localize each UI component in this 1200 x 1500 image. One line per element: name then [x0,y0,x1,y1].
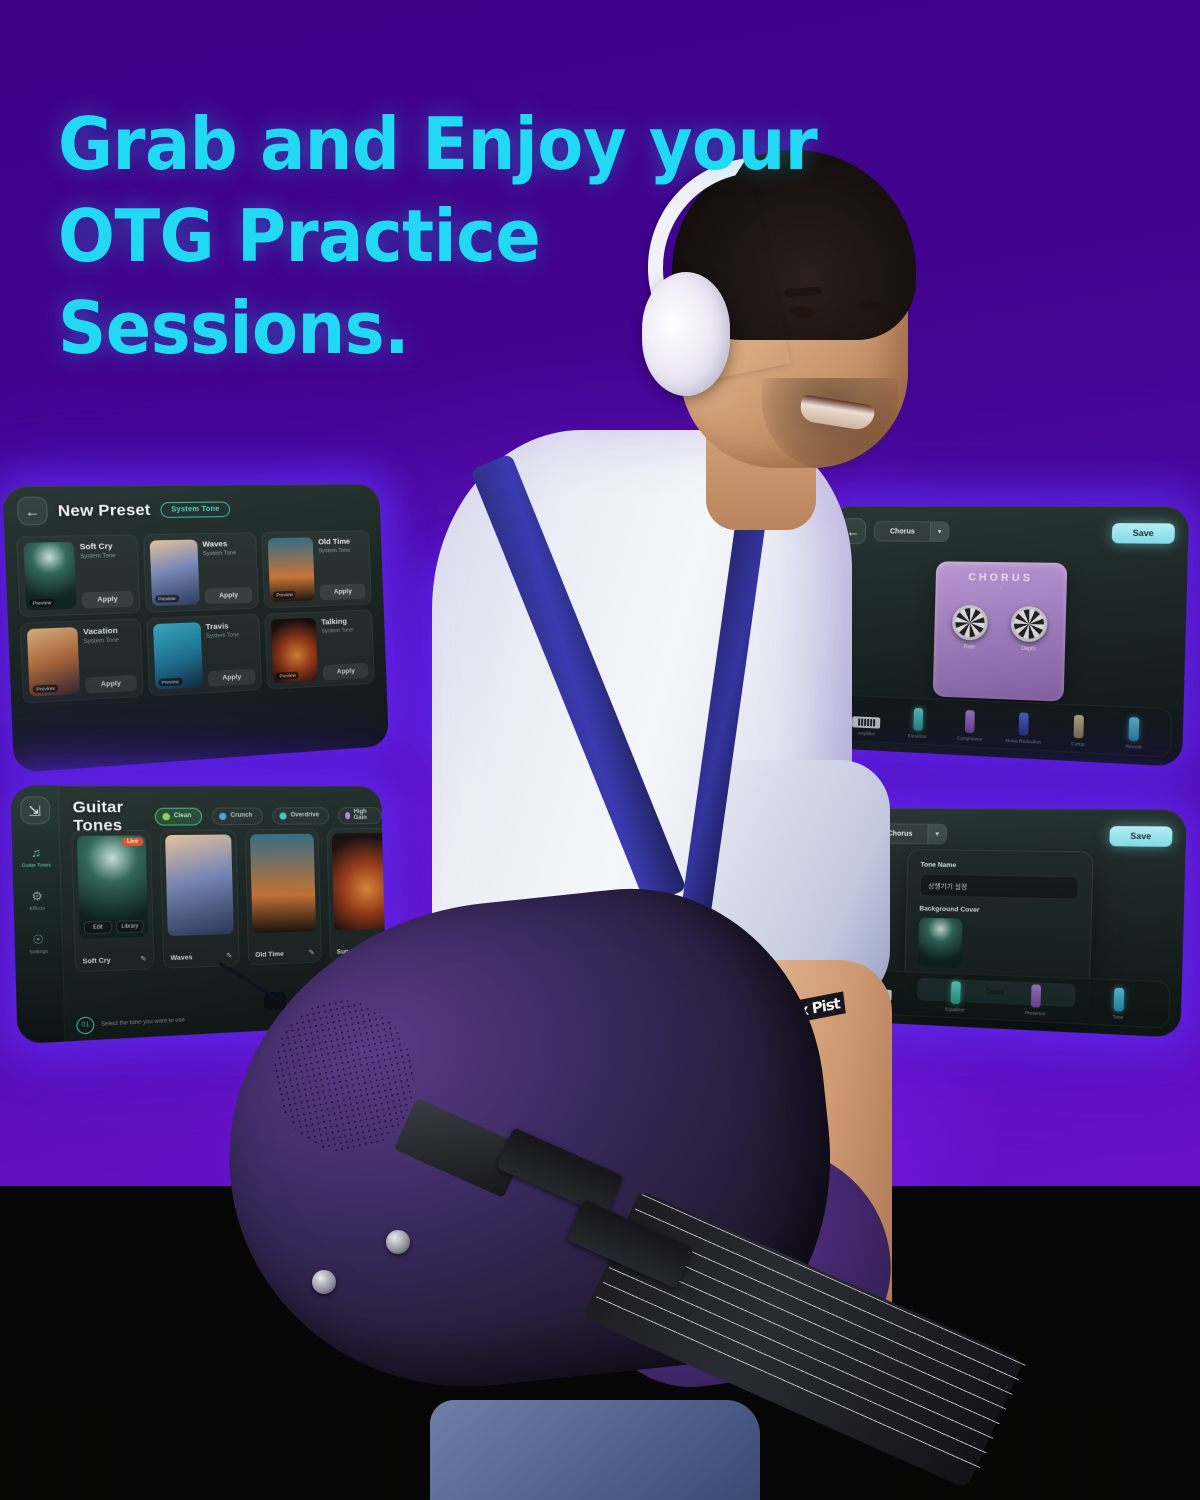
preset-subtitle: System Tone [321,627,367,635]
footer-hint: Select the tone you want to use [101,1017,185,1028]
fx-slot-label: Presence [1025,1010,1046,1016]
status-dot [219,812,227,819]
panel-new-preset[interactable]: ← New Preset System Tone Preview Soft Cr… [2,484,389,773]
sidebar: ⇲ ♫ Guitar Tones ⚙ Effects ☉ Settings [10,785,65,1044]
fx-chip-icon [965,710,975,733]
preview-label[interactable]: Preview [33,684,59,693]
pencil-icon[interactable]: ✎ [309,949,315,957]
status-dot [345,812,350,819]
chevron-down-icon[interactable]: ▾ [927,825,946,844]
filter-chip-label: Overdrive [291,812,320,818]
exit-icon[interactable]: ⇲ [19,796,50,824]
apply-button[interactable]: Apply [207,669,256,687]
preview-label[interactable]: Preview [29,599,55,607]
preview-label[interactable]: Preview [276,672,299,680]
filter-chip-high-gain[interactable]: High Gain [338,806,382,823]
preset-name: Waves [202,539,250,549]
fx-chip-icon [1073,715,1083,739]
filter-chip-label: High Gain [353,809,372,821]
list-item[interactable]: Preview Travis System Tone Apply [146,614,263,697]
guitar-tone-knob [312,1270,336,1294]
preset-name: Old Time [318,536,364,546]
fx-slot-tone[interactable]: Tone [1077,986,1160,1022]
fx-slot-comp[interactable]: Comp [1051,714,1105,748]
list-item[interactable]: Preview Soft Cry System Tone Apply [16,534,140,617]
fx-chip-icon [913,708,923,731]
preset-thumbnail: Preview [149,540,199,607]
pencil-icon[interactable]: ✎ [140,955,147,964]
preset-subtitle: System Tone [83,637,134,646]
sidebar-item-label: Effects [29,905,45,911]
step-badge: 01 [76,1016,94,1034]
apply-button[interactable]: Apply [85,675,137,694]
guitar-volume-knob [386,1230,410,1254]
preset-grid: Preview Soft Cry System Tone Apply Previ… [16,530,375,703]
fx-slot-equalizer[interactable]: Equalizer [893,707,943,740]
preset-subtitle: System Tone [318,547,364,554]
apply-button[interactable]: Apply [323,663,369,681]
pedal-title: CHORUS [968,572,1033,584]
fx-slot-label: Amplifier [857,730,875,736]
gear-icon: ☉ [32,935,44,947]
list-item[interactable]: Preview Waves System Tone Apply [142,532,259,613]
page-title: New Preset [57,501,150,520]
sliders-icon: ⚙ [31,891,43,903]
preset-thumbnail: Preview [153,622,203,689]
page-headline: Grab and Enjoy your OTG Practice Session… [58,98,765,374]
list-item[interactable]: Preview Talking System Tone Apply [265,609,375,689]
save-button[interactable]: Save [1112,523,1175,544]
knob-rate[interactable]: Rate [951,605,988,651]
chorus-toolbar: ← Chorus ▾ Save [840,518,1175,547]
sidebar-item-effects[interactable]: ⚙ Effects [29,891,45,911]
tone-card[interactable]: Live Edit Library Soft Cry ✎ [71,830,155,972]
filter-chip-overdrive[interactable]: Overdrive [272,807,329,825]
preset-subtitle: System Tone [203,550,251,557]
preset-name: Travis [205,620,253,631]
fx-slot-label: Equalizer [908,733,927,739]
status-badge: Live [121,837,143,846]
fx-chip-icon [1129,717,1140,741]
fx-slot-noise-reduction[interactable]: Noise Reduction [997,711,1050,745]
save-button[interactable]: Save [1109,826,1172,847]
amplifier-icon [852,716,880,728]
filter-chip-crunch[interactable]: Crunch [211,807,263,825]
tone-name-label: Tone Name [920,861,1079,871]
subject-eyebrow-right [856,302,892,311]
poster-stage: Grab and Enjoy your OTG Practice Session… [0,0,1200,1500]
fx-chip-icon [950,981,960,1004]
fx-chip-icon [1113,987,1124,1011]
fx-slot-label: Reverb [1125,743,1141,749]
guitar-tones-footer: 01 Select the tone you want to use [76,1012,185,1035]
headline-line-2: OTG Practice [58,190,765,282]
tone-artwork: Live Edit Library [77,835,148,939]
library-button[interactable]: Library [116,920,144,934]
headline-line-3: Sessions. [58,282,765,374]
status-badge: System Tone [160,501,230,518]
fx-slot-label: Tone [1112,1014,1123,1020]
music-note-icon: ♫ [31,848,41,860]
list-item[interactable]: Preview Vacation System Tone Apply [20,618,144,703]
fx-slot-presence[interactable]: Presence [996,983,1076,1018]
tone-card[interactable]: Old Time ✎ [245,829,322,966]
tone-name: Old Time [255,950,284,958]
tone-artwork [165,834,234,936]
edit-button[interactable]: Edit [84,921,112,935]
fx-slot-compressor[interactable]: Compressor [944,709,996,742]
fx-slot-reverb[interactable]: Reverb [1107,716,1162,751]
fx-slot-label: Comp [1071,741,1084,747]
apply-button[interactable]: Apply [204,587,253,604]
chorus-pedal[interactable]: CHORUS · Rate Depth [933,561,1068,701]
new-preset-header: ← New Preset System Tone [17,495,231,525]
knob-label: Rate [964,644,975,651]
background-cover-label: Background Cover [919,905,1078,916]
preview-label[interactable]: Preview [273,591,296,599]
fx-chip-icon [1030,984,1040,1007]
knob-label: Depth [1021,646,1035,653]
background-cover-thumbnail[interactable] [918,918,963,969]
knob-depth[interactable]: Depth [1010,606,1048,653]
chevron-down-icon[interactable]: ▾ [930,522,949,541]
tone-artwork [250,834,316,934]
filter-chip-label: Crunch [230,813,252,819]
tone-name-value: 상행기기 설정 [928,880,967,891]
filter-chip-clean[interactable]: Clean [154,807,202,825]
status-dot [279,812,286,819]
back-arrow-icon[interactable]: ← [17,497,48,526]
apply-button[interactable]: Apply [82,591,134,609]
status-dot [162,812,170,819]
preset-name: Vacation [83,625,134,637]
list-item[interactable]: Preview Old Time System Tone Apply [262,530,372,608]
tone-name: Soft Cry [82,957,110,966]
knob-row: Rate Depth [951,605,1047,653]
preset-thumbnail: Preview [27,627,80,697]
preset-thumbnail: Preview [23,542,76,611]
preset-name: Soft Cry [80,541,131,552]
preset-thumbnail: Preview [271,618,318,683]
fx-slot-label: Equalizer [945,1006,965,1012]
filter-chip-label: Clean [174,813,192,819]
preview-label[interactable]: Preview [158,678,182,687]
preset-subtitle: System Tone [80,553,131,561]
apply-button[interactable]: Apply [320,584,366,601]
pedal-subtitle: · [999,585,1001,591]
effect-select-value: Chorus [875,528,930,535]
knob-dial-icon[interactable] [952,605,988,641]
knob-dial-icon[interactable] [1010,606,1047,642]
tone-artwork [332,833,387,931]
effect-select[interactable]: Chorus ▾ [874,521,950,542]
sidebar-item-label: Guitar Tones [22,862,51,868]
fx-slot-equalizer[interactable]: Equalizer [917,980,995,1014]
tone-card[interactable]: Waves ✎ [160,829,240,969]
preset-subtitle: System Tone [206,632,254,640]
panel-chorus-editor[interactable]: ← Chorus ▾ Save CHORUS · Rate Depth [823,506,1189,767]
tone-name: Waves [170,954,192,962]
fx-chain-bar: Amplifier Equalizer Compressor Noise Red… [833,694,1172,757]
headline-line-1: Grab and Enjoy your [58,98,765,190]
tone-name-input[interactable]: 상행기기 설정 [920,874,1079,900]
sidebar-item-settings[interactable]: ☉ Settings [29,935,48,955]
sidebar-item-guitar-tones[interactable]: ♫ Guitar Tones [21,848,51,868]
pencil-icon[interactable]: ✎ [226,952,232,961]
subject-jeans [430,1400,760,1500]
fx-slot-label: Compressor [957,735,983,742]
fx-chip-icon [1018,712,1028,735]
preset-thumbnail: Preview [268,537,315,602]
sidebar-item-label: Settings [29,949,48,955]
fx-slot-label: Noise Reduction [1005,738,1040,745]
preview-label[interactable]: Preview [155,595,179,603]
tone-card-list: Live Edit Library Soft Cry ✎ Waves ✎ [71,828,387,972]
preset-name: Talking [321,616,367,627]
